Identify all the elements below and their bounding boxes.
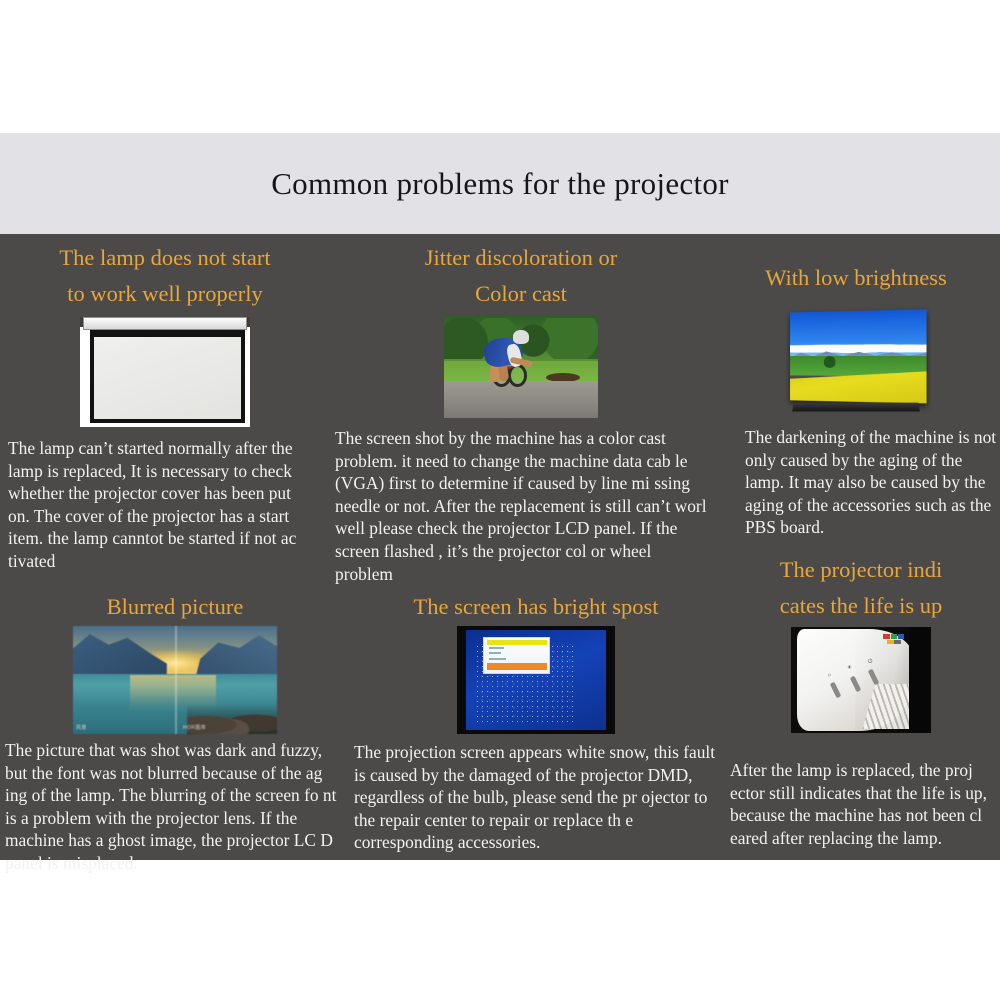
card-body-text: The picture that was shot was dark and f… [5,739,348,875]
brand-logo [883,634,905,646]
card-heading-line1: With low brightness [712,260,1000,296]
card-body-text: After the lamp is replaced, the proj ect… [730,759,1000,849]
card-heading-line2: to work well properly [0,276,330,312]
card-low-brightness: With low brightness The darkening of the… [712,260,1000,539]
card-heading-line1: Blurred picture [0,589,350,625]
photo-road [444,381,598,418]
card-jitter-discoloration: Jitter discoloration or Color cast [332,240,710,585]
screen-top-casing [83,317,247,330]
osd-label-1 [489,647,503,649]
content-board: The lamp does not start to work well pro… [0,234,1000,860]
projected-blue-screen [466,630,605,729]
card-body-text: The projection screen appears white snow… [354,741,722,854]
cyclist-color-cast-photo [444,316,598,418]
watermark-brand-label: HOR图库 [183,724,206,731]
poster-page: Common problems for the projector The la… [0,0,1000,1000]
blue-snow-screen-photo [457,626,615,734]
white-projector-screen-photo [80,317,250,427]
card-heading-line1: The screen has bright spost [350,589,722,625]
photo-dark-edge [909,627,931,733]
power-icon: ⏻ [868,659,872,666]
card-heading-line2: cates the life is up [722,588,1000,624]
card-life-is-up: The projector indi cates the life is up … [722,552,1000,849]
tv-stand [792,403,919,412]
card-body-text: The darkening of the machine is not only… [745,426,1000,539]
photo-clouds [790,342,926,354]
card-heading-line1: The projector indi [722,552,1000,588]
screen-projection-surface [94,337,241,419]
osd-row-highlighted [487,640,547,645]
card-heading-line2: Color cast [332,276,710,312]
photo-cyclist [481,332,533,383]
card-blurred-picture: Blurred picture 风景 HOR图库 The picture tha… [0,589,350,875]
card-lamp-does-not-start: The lamp does not start to work well pro… [0,240,330,573]
watermark-left-label: 风景 [76,724,87,731]
photo-split-seam [175,626,177,734]
temp-icon: ☀ [847,665,852,671]
osd-label-3 [489,658,506,660]
card-bright-spots: The screen has bright spost The projecti… [350,589,722,854]
tv-landscape-photo [781,306,931,414]
osd-label-2 [489,652,501,654]
osd-menu-overlay [483,637,550,674]
title-banner: Common problems for the projector [0,133,1000,234]
tv-screen-panel [790,310,926,404]
osd-row-footer [487,663,547,670]
card-heading-line1: Jitter discoloration or [332,240,710,276]
page-title: Common problems for the projector [271,166,729,202]
cyclist-helmet [513,330,529,343]
blurred-lake-sunset-photo: 风景 HOR图库 [73,626,277,734]
projector-indicator-leds-photo: ☼ ☀ ⏻ [791,627,931,733]
card-body-text: The screen shot by the machine has a col… [335,427,707,585]
logo-square-gray [894,640,901,645]
logo-square-yellow [887,640,894,645]
card-heading-line1: The lamp does not start [0,240,330,276]
card-body-text: The lamp can’t started normally after th… [8,437,315,573]
